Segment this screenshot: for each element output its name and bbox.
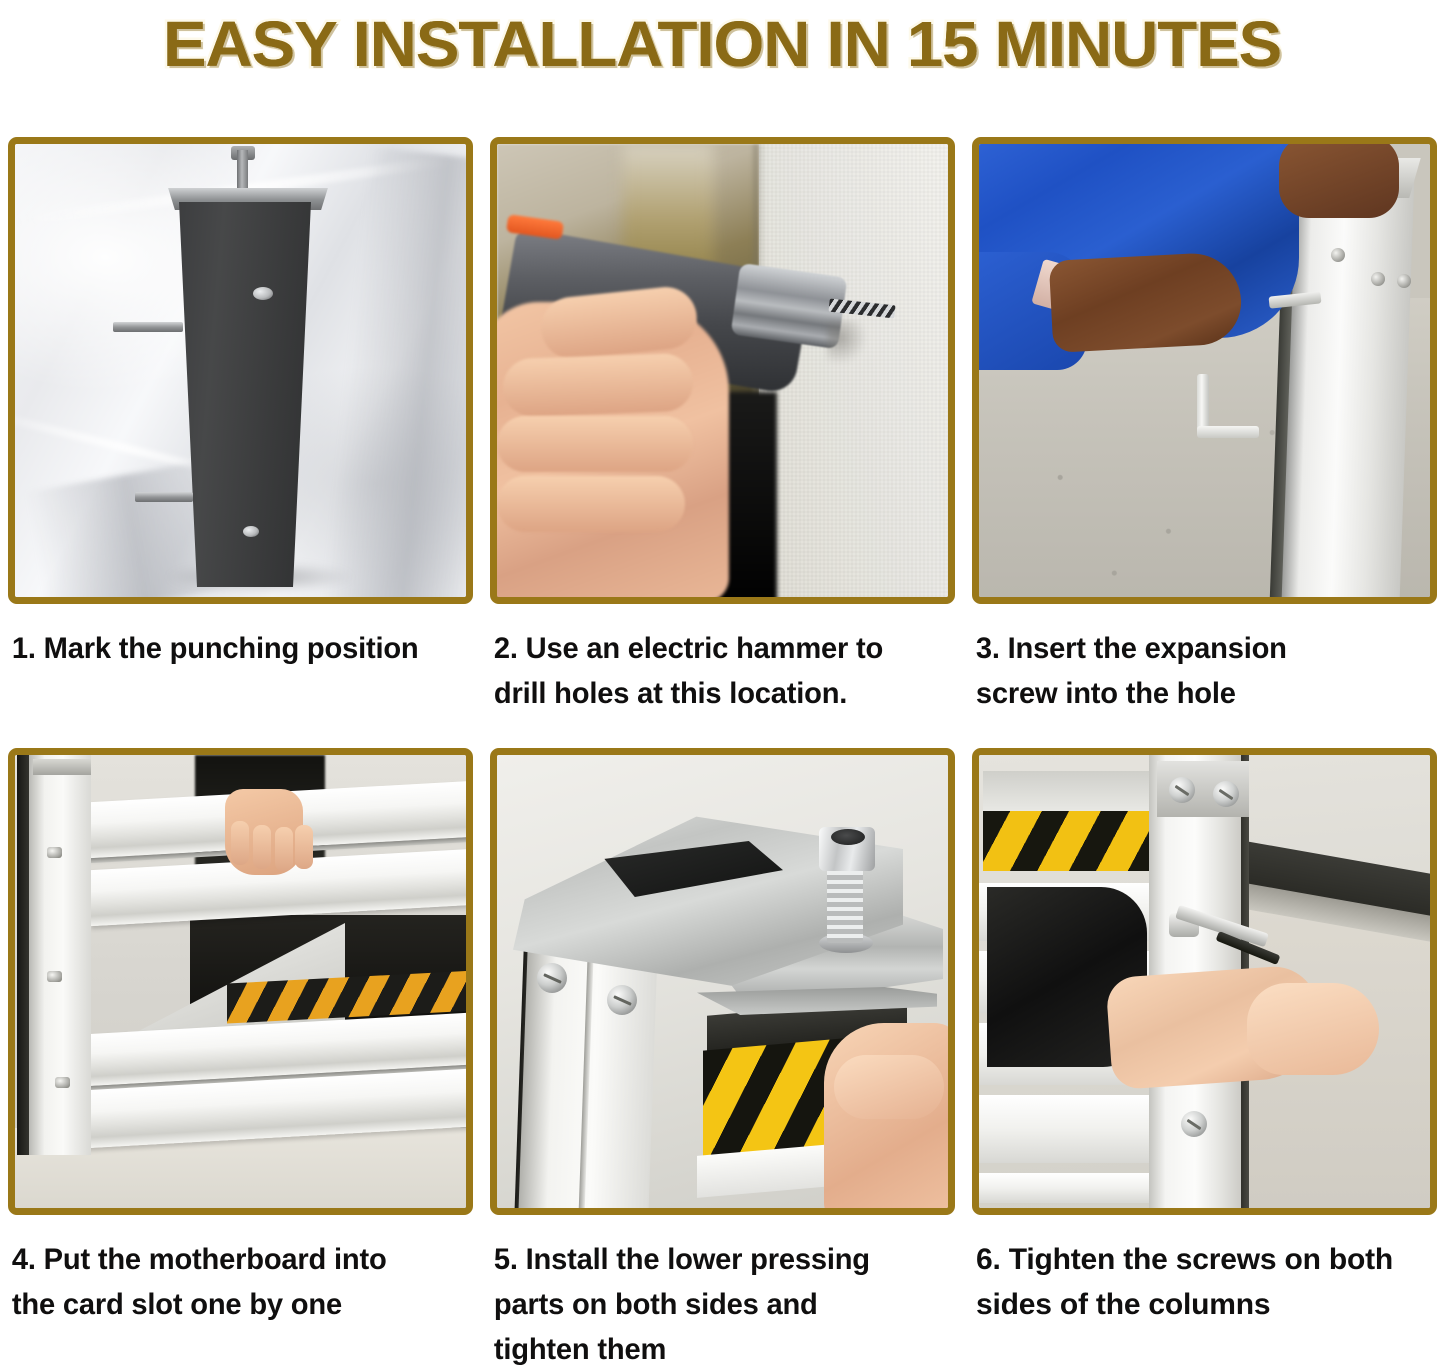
page-title: EASY INSTALLATION IN 15 MINUTES <box>163 11 1281 77</box>
step-caption-4: 4. Put the motherboard into the card slo… <box>8 1237 459 1327</box>
finger <box>502 353 694 418</box>
hazard-stripe <box>983 811 1153 871</box>
allen-key <box>1197 426 1259 438</box>
sheet-shadow <box>321 147 466 597</box>
installation-guide-page: EASY INSTALLATION IN 15 MINUTES <box>0 0 1445 1352</box>
column-screw <box>1331 248 1345 262</box>
mounting-hole <box>243 526 259 537</box>
column-screw <box>1371 272 1385 286</box>
step-card-2: 2. Use an electric hammer to drill holes… <box>490 137 955 716</box>
hex-socket <box>831 829 865 845</box>
step-caption-2: 2. Use an electric hammer to drill holes… <box>490 626 941 716</box>
top-threaded-rod <box>237 150 248 192</box>
step-photo-frame-4 <box>8 748 473 1215</box>
operator-arm-right <box>1279 144 1399 218</box>
step-photo-5 <box>497 755 948 1208</box>
drill-dust <box>827 320 867 364</box>
steps-row-bottom: 4. Put the motherboard into the card slo… <box>8 748 1437 1372</box>
step-caption-3: 3. Insert the expansion screw into the h… <box>972 626 1423 716</box>
operator-hand <box>1247 983 1379 1075</box>
finger <box>497 416 693 472</box>
step-card-6: 6. Tighten the screws on both sides of t… <box>972 748 1437 1372</box>
step-photo-frame-1 <box>8 137 473 604</box>
step-photo-frame-5 <box>490 748 955 1215</box>
step-photo-frame-6 <box>972 748 1437 1215</box>
step-photo-1 <box>15 144 466 597</box>
column-screw <box>55 1077 70 1088</box>
step-photo-3 <box>979 144 1430 597</box>
mounting-hole <box>253 287 273 300</box>
step-card-4: 4. Put the motherboard into the card slo… <box>8 748 473 1372</box>
step-photo-2 <box>497 144 948 597</box>
finger <box>834 1055 944 1119</box>
step-photo-frame-3 <box>972 137 1437 604</box>
step-caption-6: 6. Tighten the screws on both sides of t… <box>972 1237 1437 1327</box>
phillips-screw <box>1169 777 1195 803</box>
operator-hand <box>1049 251 1244 353</box>
phillips-screw <box>1181 1111 1207 1137</box>
column-screw <box>47 971 62 982</box>
step-card-5: 5. Install the lower pressing parts on b… <box>490 748 955 1372</box>
column-top-plate <box>33 759 91 775</box>
phillips-screw <box>607 985 637 1015</box>
aluminium-board <box>979 1095 1157 1163</box>
step-photo-4 <box>15 755 466 1208</box>
finger <box>295 825 313 869</box>
finger <box>253 825 271 869</box>
column-screw <box>1397 274 1411 288</box>
hex-bolt-thread <box>827 859 863 943</box>
step-caption-1: 1. Mark the punching position <box>8 626 459 671</box>
step-photo-frame-2 <box>490 137 955 604</box>
column-screw <box>47 847 62 858</box>
step-card-3: 3. Insert the expansion screw into the h… <box>972 137 1437 716</box>
side-bolt <box>135 492 193 502</box>
phillips-screw <box>1213 781 1239 807</box>
column-card-slot <box>29 755 91 1155</box>
steps-grid: 1. Mark the punching position <box>8 137 1437 1372</box>
steps-row-top: 1. Mark the punching position <box>8 137 1437 716</box>
phillips-screw <box>537 963 567 993</box>
finger <box>497 476 685 532</box>
aluminium-board <box>979 1173 1157 1203</box>
step-photo-6 <box>979 755 1430 1208</box>
white-board <box>983 771 1153 813</box>
finger <box>275 827 293 871</box>
page-title-bar: EASY INSTALLATION IN 15 MINUTES <box>0 0 1445 88</box>
side-bolt <box>113 322 183 332</box>
aluminium-column <box>1281 166 1415 597</box>
finger <box>231 821 249 865</box>
step-card-1: 1. Mark the punching position <box>8 137 473 716</box>
